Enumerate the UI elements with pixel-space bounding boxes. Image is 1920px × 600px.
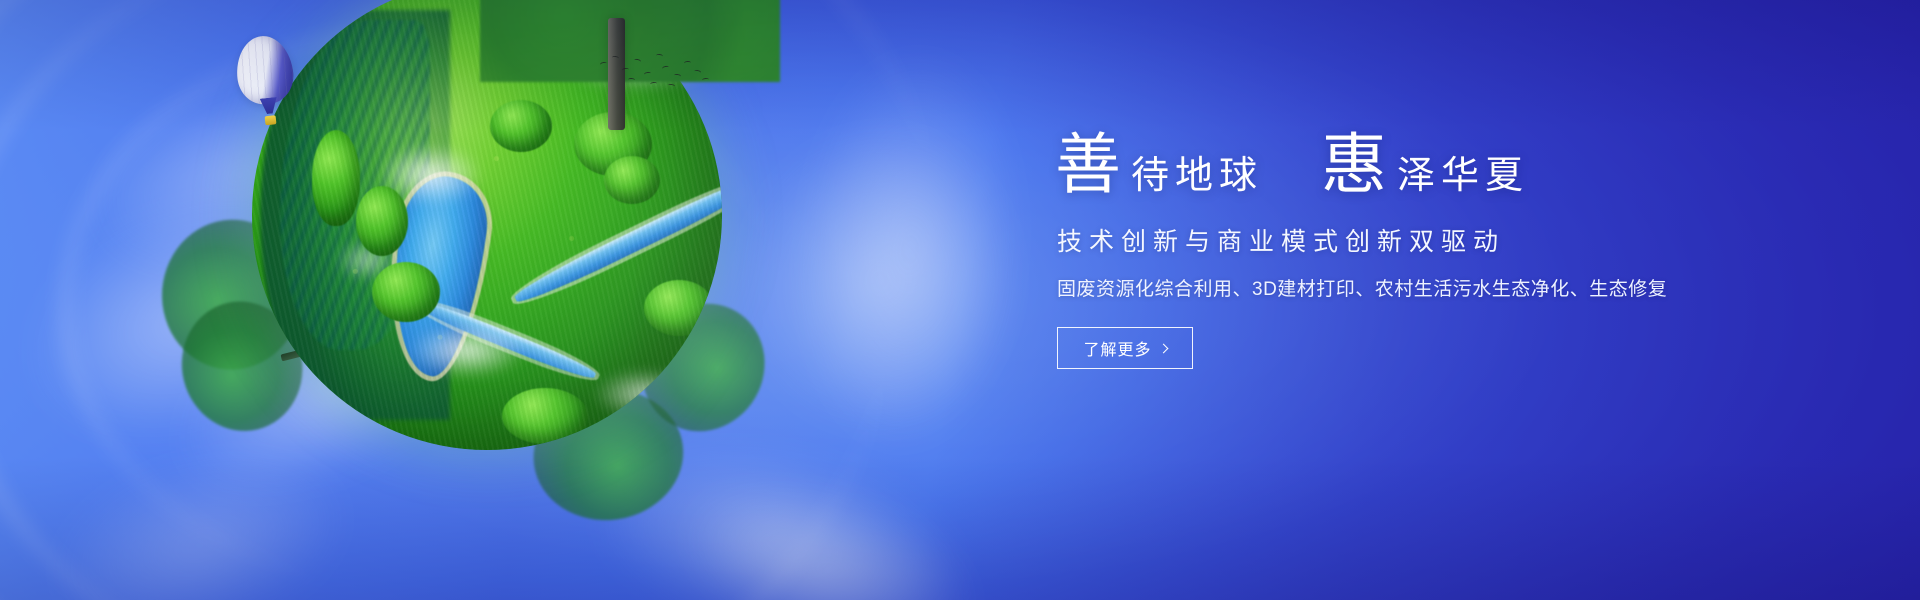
hero-banner: 善 待地球 惠 泽华夏 技术创新与商业模式创新双驱动 固废资源化综合利用、3D建… — [0, 0, 1920, 600]
vignette-overlay — [0, 0, 1920, 600]
